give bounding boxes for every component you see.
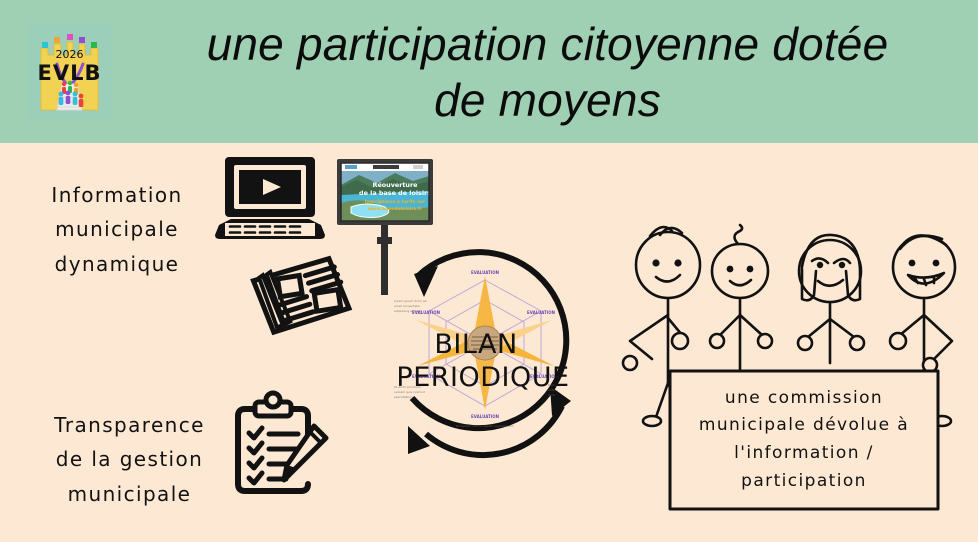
billboard-subline-1: Inscriptions à tarifs sur <box>365 198 426 205</box>
star-point-label-1: EVALUATION <box>471 270 499 275</box>
slide-canvas: 2026 EVLB <box>0 0 978 542</box>
banner-line3: l'information / <box>699 440 909 468</box>
page-title-line2: de moyens <box>125 72 970 128</box>
cycle-label-line1: BILAN <box>434 329 517 360</box>
clipboard-checklist-pencil-icon <box>228 396 338 515</box>
billboard-subline-2: www.basedeloisirs.fr <box>368 206 423 212</box>
label-info-line3: dynamique <box>12 247 222 281</box>
header-band: 2026 EVLB <box>0 0 978 143</box>
label-information-municipale: Information municipale dynamique <box>12 178 222 281</box>
content-area: Information municipale dynamique Transpa… <box>0 143 978 542</box>
label-info-line1: Information <box>12 178 222 212</box>
cycle-label-line2: PERIODIQUE <box>396 362 569 393</box>
billboard-headline-2: de la base de loisirs <box>359 189 431 197</box>
label-transp-line3: municipale <box>22 477 237 511</box>
logo-year-text: 2026 <box>56 48 84 61</box>
label-transp-line2: de la gestion <box>22 442 237 476</box>
billboard-headline-1: Réouverture <box>373 181 419 189</box>
banner-line1: une commission <box>699 385 909 413</box>
svg-text:adipiscing elit sed: adipiscing elit sed <box>394 309 421 313</box>
svg-text:amet consectetur: amet consectetur <box>394 304 421 308</box>
label-transp-line1: Transparence <box>22 408 237 442</box>
commission-banner-text: une commission municipale dévolue à l'in… <box>672 375 936 505</box>
label-transparence-gestion: Transparence de la gestion municipale <box>22 408 237 511</box>
star-point-label-2: EVALUATION <box>527 310 555 315</box>
evlb-2026-logo: 2026 EVLB <box>27 22 112 119</box>
periodic-review-cycle: EVALUATION EVALUATION EVALUATION EVALUAT… <box>378 238 593 472</box>
svg-text:Excepteur sint occaecat cupida: Excepteur sint occaecat cupidatat non <box>456 424 514 428</box>
page-title: une participation citoyenne dotée de moy… <box>125 8 970 136</box>
star-point-label-4: EVALUATION <box>471 414 499 419</box>
banner-line4: participation <box>699 468 909 496</box>
label-info-line2: municipale <box>12 212 222 246</box>
svg-text:exercitation: exercitation <box>394 395 412 399</box>
stick-figure-group: une commission municipale dévolue à l'in… <box>612 223 972 542</box>
page-title-line1: une participation citoyenne dotée <box>207 18 889 70</box>
svg-text:Lorem ipsum dolor sit: Lorem ipsum dolor sit <box>394 299 427 303</box>
laptop-video-icon <box>213 155 331 249</box>
svg-text:irure: irure <box>548 393 555 397</box>
banner-line2: municipale dévolue à <box>699 412 909 440</box>
